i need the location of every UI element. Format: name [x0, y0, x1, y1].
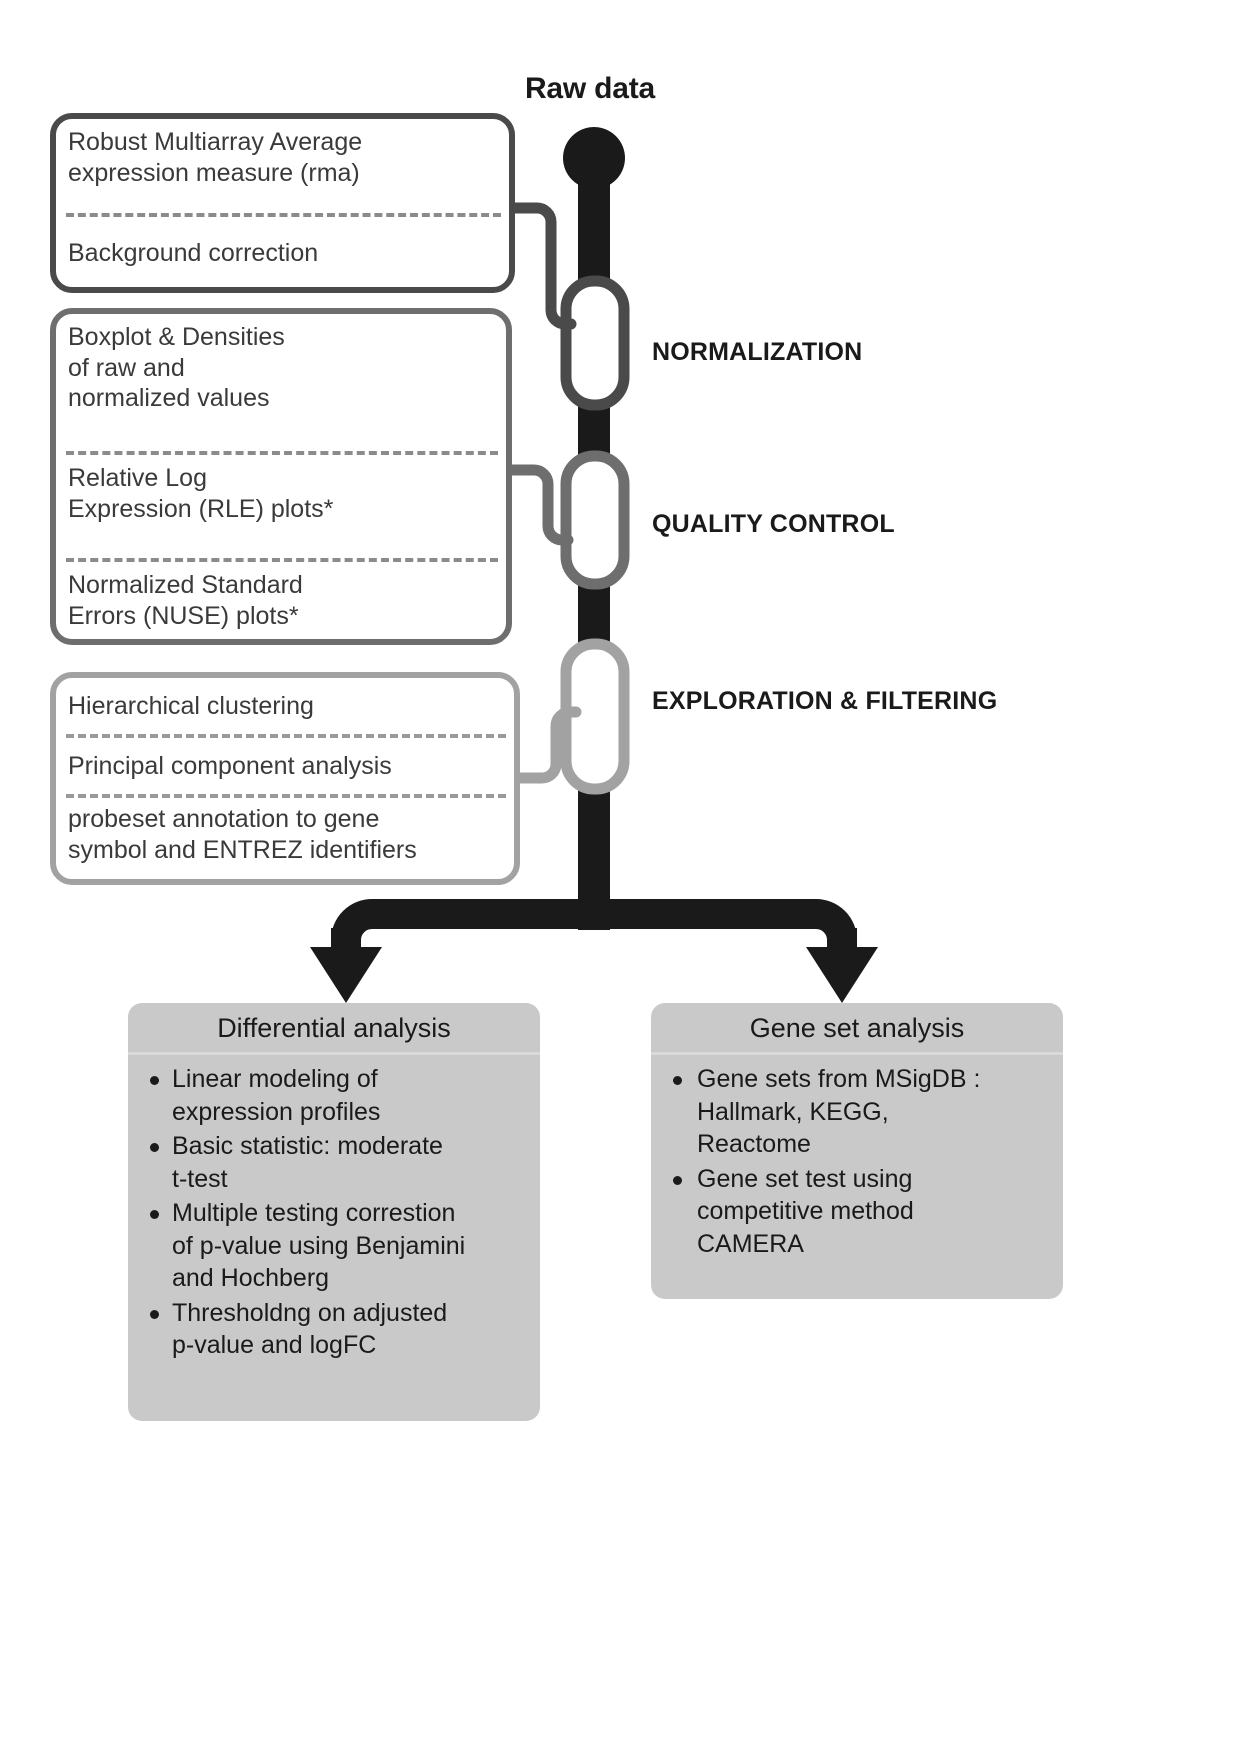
step-text: probeset annotation to gene symbol and E… — [56, 798, 514, 879]
stage-label-normalization: NORMALIZATION — [652, 336, 862, 369]
step-text: Relative Log Expression (RLE) plots* — [56, 455, 506, 558]
list-item: Gene set test using competitive method C… — [669, 1163, 1049, 1261]
card-bullet-list: Gene sets from MSigDB : Hallmark, KEGG, … — [651, 1055, 1063, 1270]
stage-panel-normalization: Robust Multiarray Average expression mea… — [50, 113, 515, 293]
step-text: Boxplot & Densities of raw and normalize… — [56, 314, 506, 451]
step-text: Principal component analysis — [56, 738, 514, 794]
step-text: Robust Multiarray Average expression mea… — [56, 119, 509, 213]
list-item: Linear modeling of expression profiles — [146, 1063, 526, 1128]
list-item: Gene sets from MSigDB : Hallmark, KEGG, … — [669, 1063, 1049, 1161]
stage-panel-quality-control: Boxplot & Densities of raw and normalize… — [50, 308, 512, 645]
output-card-gene-set-analysis: Gene set analysis Gene sets from MSigDB … — [651, 1003, 1063, 1299]
branch-stem — [578, 886, 610, 930]
stage-label-exploration-filtering: EXPLORATION & FILTERING — [652, 685, 997, 718]
card-bullet-list: Linear modeling of expression profiles B… — [128, 1055, 540, 1372]
stage-label-quality-control: QUALITY CONTROL — [652, 508, 895, 541]
step-text: Hierarchical clustering — [56, 678, 514, 734]
page-title: Raw data — [440, 72, 740, 106]
card-title: Gene set analysis — [651, 1003, 1063, 1055]
list-item: Multiple testing correstion of p-value u… — [146, 1197, 526, 1295]
card-title: Differential analysis — [128, 1003, 540, 1055]
spine-segment-1 — [578, 158, 610, 293]
capsule-normalization — [566, 281, 624, 405]
stage-panel-exploration-filtering: Hierarchical clustering Principal compon… — [50, 672, 520, 885]
connector-quality-control — [512, 470, 568, 540]
step-text: Normalized Standard Errors (NUSE) plots* — [56, 562, 506, 665]
step-text: Background correction — [56, 217, 509, 289]
output-card-differential-analysis: Differential analysis Linear modeling of… — [128, 1003, 540, 1421]
capsule-quality-control — [566, 456, 624, 584]
arrow-head-right-icon — [806, 947, 878, 1003]
list-item: Basic statistic: moderate t-test — [146, 1130, 526, 1195]
list-item: Thresholdng on adjusted p-value and logF… — [146, 1297, 526, 1362]
diagram-canvas: Raw data NORMALIZATION QUALITY CONTROL E… — [0, 0, 1240, 1753]
